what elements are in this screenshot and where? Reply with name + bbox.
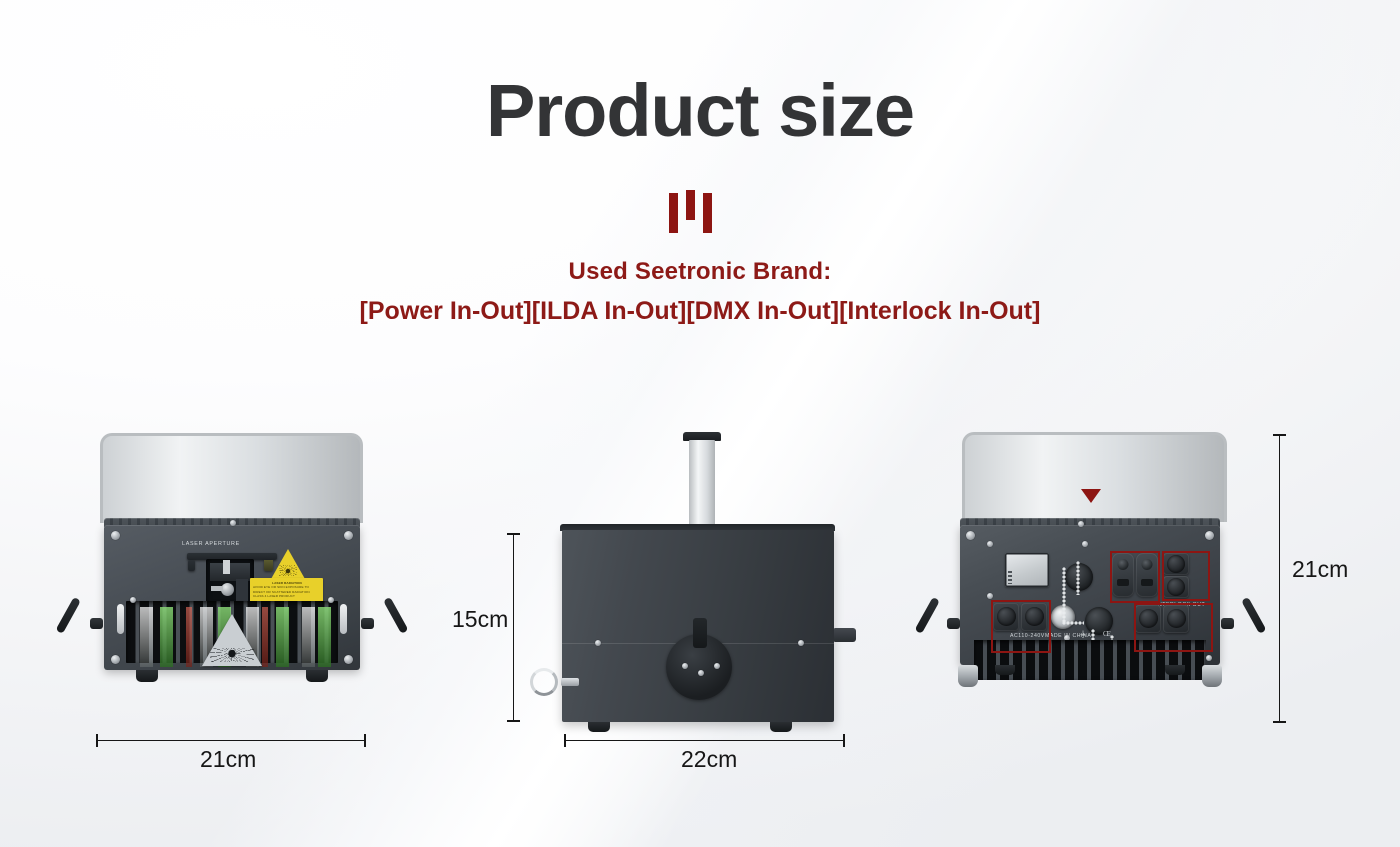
screw [1082,541,1088,547]
dmx-port-in[interactable] [1135,605,1161,633]
mounting-bracket [834,628,856,642]
dimension-line-height-side [513,533,514,722]
ce-mark: CE [1103,630,1110,638]
laser-aperture-label: LASER APERTURE [182,541,240,547]
lcd-display[interactable] [1005,553,1049,587]
screw [987,541,993,547]
interlock-port-out[interactable] [1163,576,1189,598]
laser-hazard-triangle-icon [271,549,305,579]
dmx-port-out[interactable] [1163,605,1189,633]
dimension-label-height-rear: 21cm [1292,556,1348,583]
red-down-triangle-marker [1081,489,1101,503]
ground-terminal-icon: ⏚ [1079,629,1088,640]
connector-cap-chain [1062,621,1084,625]
laser-aperture-window [206,559,254,606]
brand-line: Used Seetronic Brand: [0,258,1400,286]
fan-detail [160,607,173,667]
front-chassis: LASER APERTURE LASER RADIATION AVOID EYE… [104,525,360,670]
dimension-label-height-side: 15cm [452,606,508,633]
connector-line: [Power In-Out][ILDA In-Out][DMX In-Out][… [0,297,1400,326]
fan-detail [140,607,153,667]
antenna-hinge-right [361,618,374,629]
screw [714,663,720,669]
fan-detail [262,607,268,667]
chassis-bracket-foot [958,665,978,687]
fan-detail [186,607,192,667]
warning-line3: CLASS 4 LASER PRODUCT [253,594,321,598]
chassis-foot [995,665,1015,675]
laser-warning-sticker-text: LASER RADIATION AVOID EYE OR SKIN EXPOSU… [253,581,321,599]
carry-handle [100,433,363,523]
dimension-label-width-side: 22cm [681,746,737,773]
screw [798,640,804,646]
chassis-foot [136,670,158,682]
optic-post [223,560,230,574]
fan-detail [276,607,289,667]
dimension-line-width-front [96,740,366,741]
screw [344,531,353,540]
product-size-infographic: Product size Used Seetronic Brand: [Powe… [0,0,1400,847]
seetronic-logo-mark [0,190,1400,236]
screw [1078,521,1084,527]
chassis-foot [588,722,610,732]
screw [130,597,136,603]
antenna-left [56,597,81,634]
power-connector-in[interactable] [993,603,1019,631]
eye-bolt-ring[interactable] [530,668,558,696]
screw [344,655,353,664]
screw [111,655,120,664]
fan-detail [318,607,331,667]
fan-detail [302,607,315,667]
connector-cap-chain [1062,567,1066,623]
optic-body [236,579,248,601]
screw [230,520,236,526]
screw [987,593,993,599]
connector-cap[interactable] [1025,607,1044,626]
power-connector-out[interactable] [1021,603,1047,631]
connector-cap[interactable] [997,607,1016,626]
side-slot [340,604,347,634]
screw [328,597,334,603]
laser-hazard-triangle-icon [202,614,262,666]
antenna-right [1241,597,1266,634]
connector-cap[interactable] [1167,578,1185,596]
screw [1205,531,1214,540]
antenna-hinge-right [1221,618,1234,629]
carry-handle [962,432,1227,522]
rear-panel: AC110-240V INTERLOCK OUT MADE IN CHINA C… [960,525,1220,665]
eye-bolt-stem [561,678,579,686]
dimension-label-width-front: 21cm [200,746,256,773]
chassis-foot [770,722,792,732]
chassis-foot [306,670,328,682]
connector-cap-chain [1076,561,1080,595]
chassis-foot [1165,665,1185,675]
side-slot [117,604,124,634]
screw [682,663,688,669]
optic-arm [211,586,223,591]
dimension-line-width-side [564,740,845,741]
screw [595,640,601,646]
interlock-port-in[interactable] [1163,553,1189,575]
screw [111,531,120,540]
antenna-hinge-left [90,618,103,629]
page-title: Product size [0,74,1400,148]
connector-cap[interactable] [1167,609,1186,628]
power-label: AC110-240V [1010,633,1045,639]
screw [698,670,704,676]
ilda-port-in[interactable] [1112,553,1134,597]
chassis-bracket-foot [1202,665,1222,687]
antenna-right [383,597,408,634]
ilda-port-out[interactable] [1136,553,1158,597]
aperture-shade-leg [188,560,195,571]
connector-cap[interactable] [1167,555,1185,573]
connector-cap[interactable] [1139,609,1158,628]
dimension-line-height-rear [1279,434,1280,723]
screw [966,531,975,540]
antenna-hinge-left [947,618,960,629]
screw [1206,655,1212,661]
antenna-left [915,597,940,634]
handle-pivot-neck [693,618,707,648]
